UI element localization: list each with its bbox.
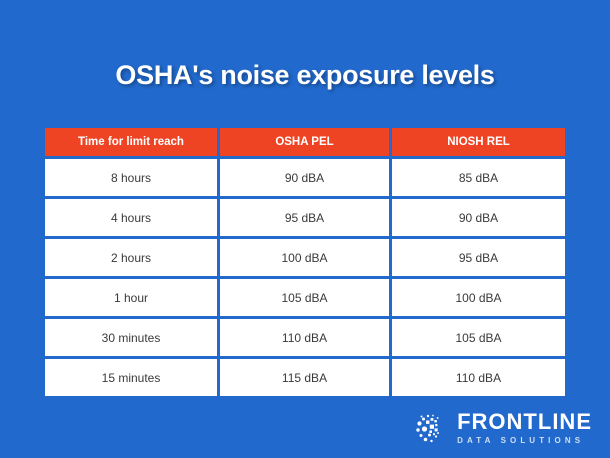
table-cell-niosh-rel: 100 dBA [392,279,565,316]
table-cell-niosh-rel: 85 dBA [392,159,565,196]
table-cell-time: 4 hours [45,199,217,236]
table-cell-niosh-rel: 105 dBA [392,319,565,356]
table-cell-time: 15 minutes [45,359,217,396]
table-cell-time: 8 hours [45,159,217,196]
table-header-cell-niosh-rel: NIOSH REL [392,128,565,156]
table-cell-osha-pel: 110 dBA [220,319,389,356]
table-row: 4 hours 95 dBA 90 dBA [45,199,565,236]
table-cell-time: 30 minutes [45,319,217,356]
table-row: 30 minutes 110 dBA 105 dBA [45,319,565,356]
table-header-cell-osha-pel: OSHA PEL [220,128,389,156]
table-cell-niosh-rel: 90 dBA [392,199,565,236]
table-row: 15 minutes 115 dBA 110 dBA [45,359,565,396]
logo-tagline: DATA SOLUTIONS [457,437,592,445]
table-cell-time: 2 hours [45,239,217,276]
noise-exposure-table: Time for limit reach OSHA PEL NIOSH REL … [45,128,565,396]
dotted-circle-icon [412,410,448,446]
table-row: 8 hours 90 dBA 85 dBA [45,159,565,196]
slide-canvas: OSHA's noise exposure levels Time for li… [0,0,610,458]
frontline-logo: FRONTLINE DATA SOLUTIONS [412,410,592,446]
table-row: 2 hours 100 dBA 95 dBA [45,239,565,276]
table-cell-niosh-rel: 110 dBA [392,359,565,396]
table-cell-osha-pel: 100 dBA [220,239,389,276]
table-cell-osha-pel: 105 dBA [220,279,389,316]
table-cell-osha-pel: 95 dBA [220,199,389,236]
table-row: 1 hour 105 dBA 100 dBA [45,279,565,316]
table-cell-osha-pel: 115 dBA [220,359,389,396]
table-header-row: Time for limit reach OSHA PEL NIOSH REL [45,128,565,156]
table-cell-osha-pel: 90 dBA [220,159,389,196]
table-cell-niosh-rel: 95 dBA [392,239,565,276]
logo-wordmark: FRONTLINE DATA SOLUTIONS [457,411,592,445]
table-cell-time: 1 hour [45,279,217,316]
table-header-cell-time: Time for limit reach [45,128,217,156]
logo-name: FRONTLINE [457,411,592,433]
page-title: OSHA's noise exposure levels [0,60,610,91]
